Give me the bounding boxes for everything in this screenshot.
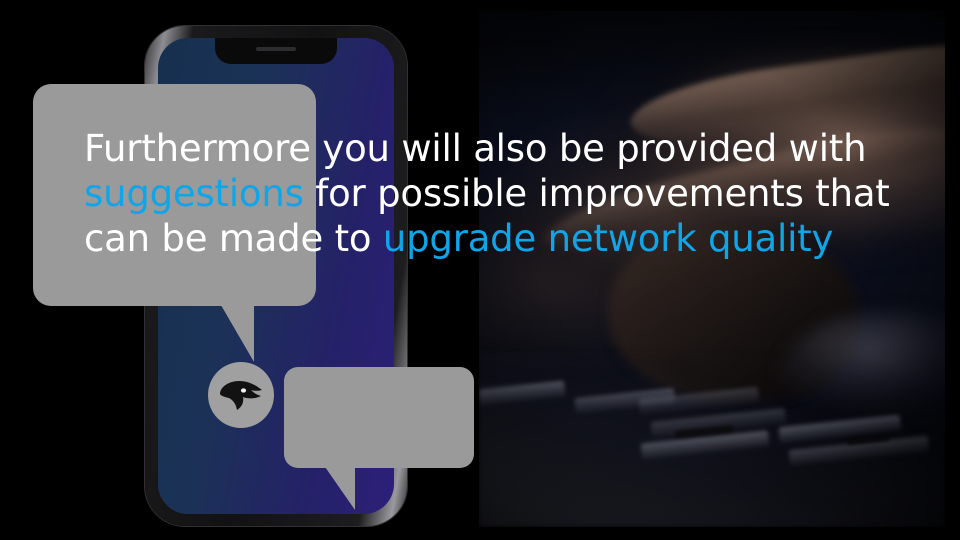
phone-notch — [215, 38, 337, 64]
headline-line-2: suggestions for possible improvements th… — [84, 171, 894, 216]
primary-speech-bubble-tail — [208, 300, 254, 362]
headline-text: Furthermore you will also be provided wi… — [84, 126, 894, 261]
secondary-speech-bubble-tail — [315, 464, 355, 510]
hand-typing-on-keyboard-photo — [479, 11, 945, 527]
avatar — [208, 362, 274, 428]
headline-segment: Furthermore you will also be provided wi… — [84, 127, 866, 170]
headline-segment: for possible improvements that — [304, 172, 890, 215]
bird-head-icon — [217, 378, 265, 412]
headline-segment: can be made to — [84, 217, 383, 260]
slide-canvas: Furthermore you will also be provided wi… — [0, 0, 960, 540]
phone-speaker-grille — [256, 47, 296, 51]
headline-segment-accent: suggestions — [84, 172, 304, 215]
headline-line-3: can be made to upgrade network quality — [84, 216, 894, 261]
headline-line-1: Furthermore you will also be provided wi… — [84, 126, 894, 171]
secondary-speech-bubble — [284, 367, 474, 468]
photo-vignette — [479, 11, 945, 527]
headline-segment-accent: upgrade network quality — [383, 217, 833, 260]
